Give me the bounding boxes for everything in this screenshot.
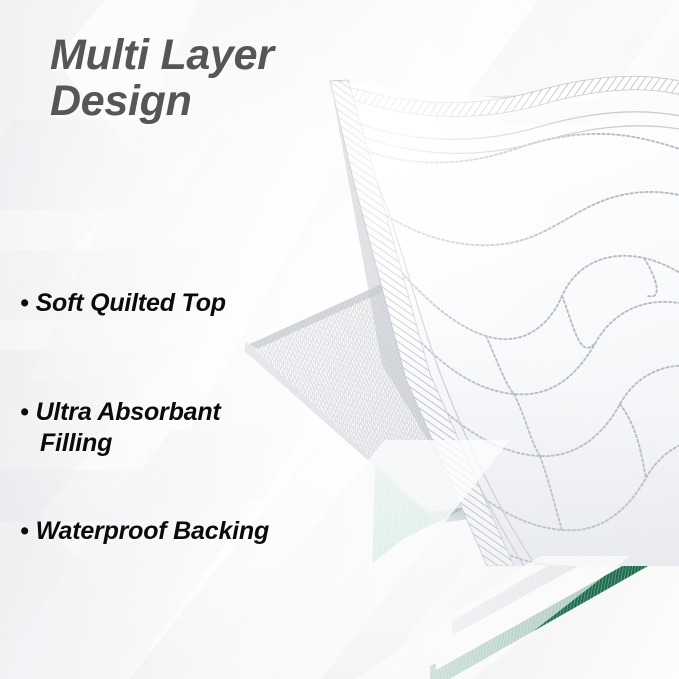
product-infographic: Multi Layer Design •Soft Quilted Top •Ul…	[0, 0, 679, 679]
page-title-line-2: Design	[50, 78, 380, 124]
list-item: •Waterproof Backing	[20, 516, 350, 547]
list-item-label-continued: Filling	[20, 428, 320, 459]
list-item-label: Waterproof Backing	[36, 517, 269, 545]
bullet-icon: •	[20, 288, 29, 319]
list-item-label: Soft Quilted Top	[36, 289, 226, 317]
bullet-icon: •	[20, 397, 29, 428]
page-title-line-1: Multi Layer	[50, 32, 380, 78]
list-item: •Ultra Absorbant Filling	[20, 397, 320, 458]
list-item-label: Ultra Absorbant	[36, 398, 221, 426]
bullet-icon: •	[20, 516, 29, 547]
list-item: •Soft Quilted Top	[20, 288, 320, 319]
page-title: Multi Layer Design	[50, 32, 380, 125]
